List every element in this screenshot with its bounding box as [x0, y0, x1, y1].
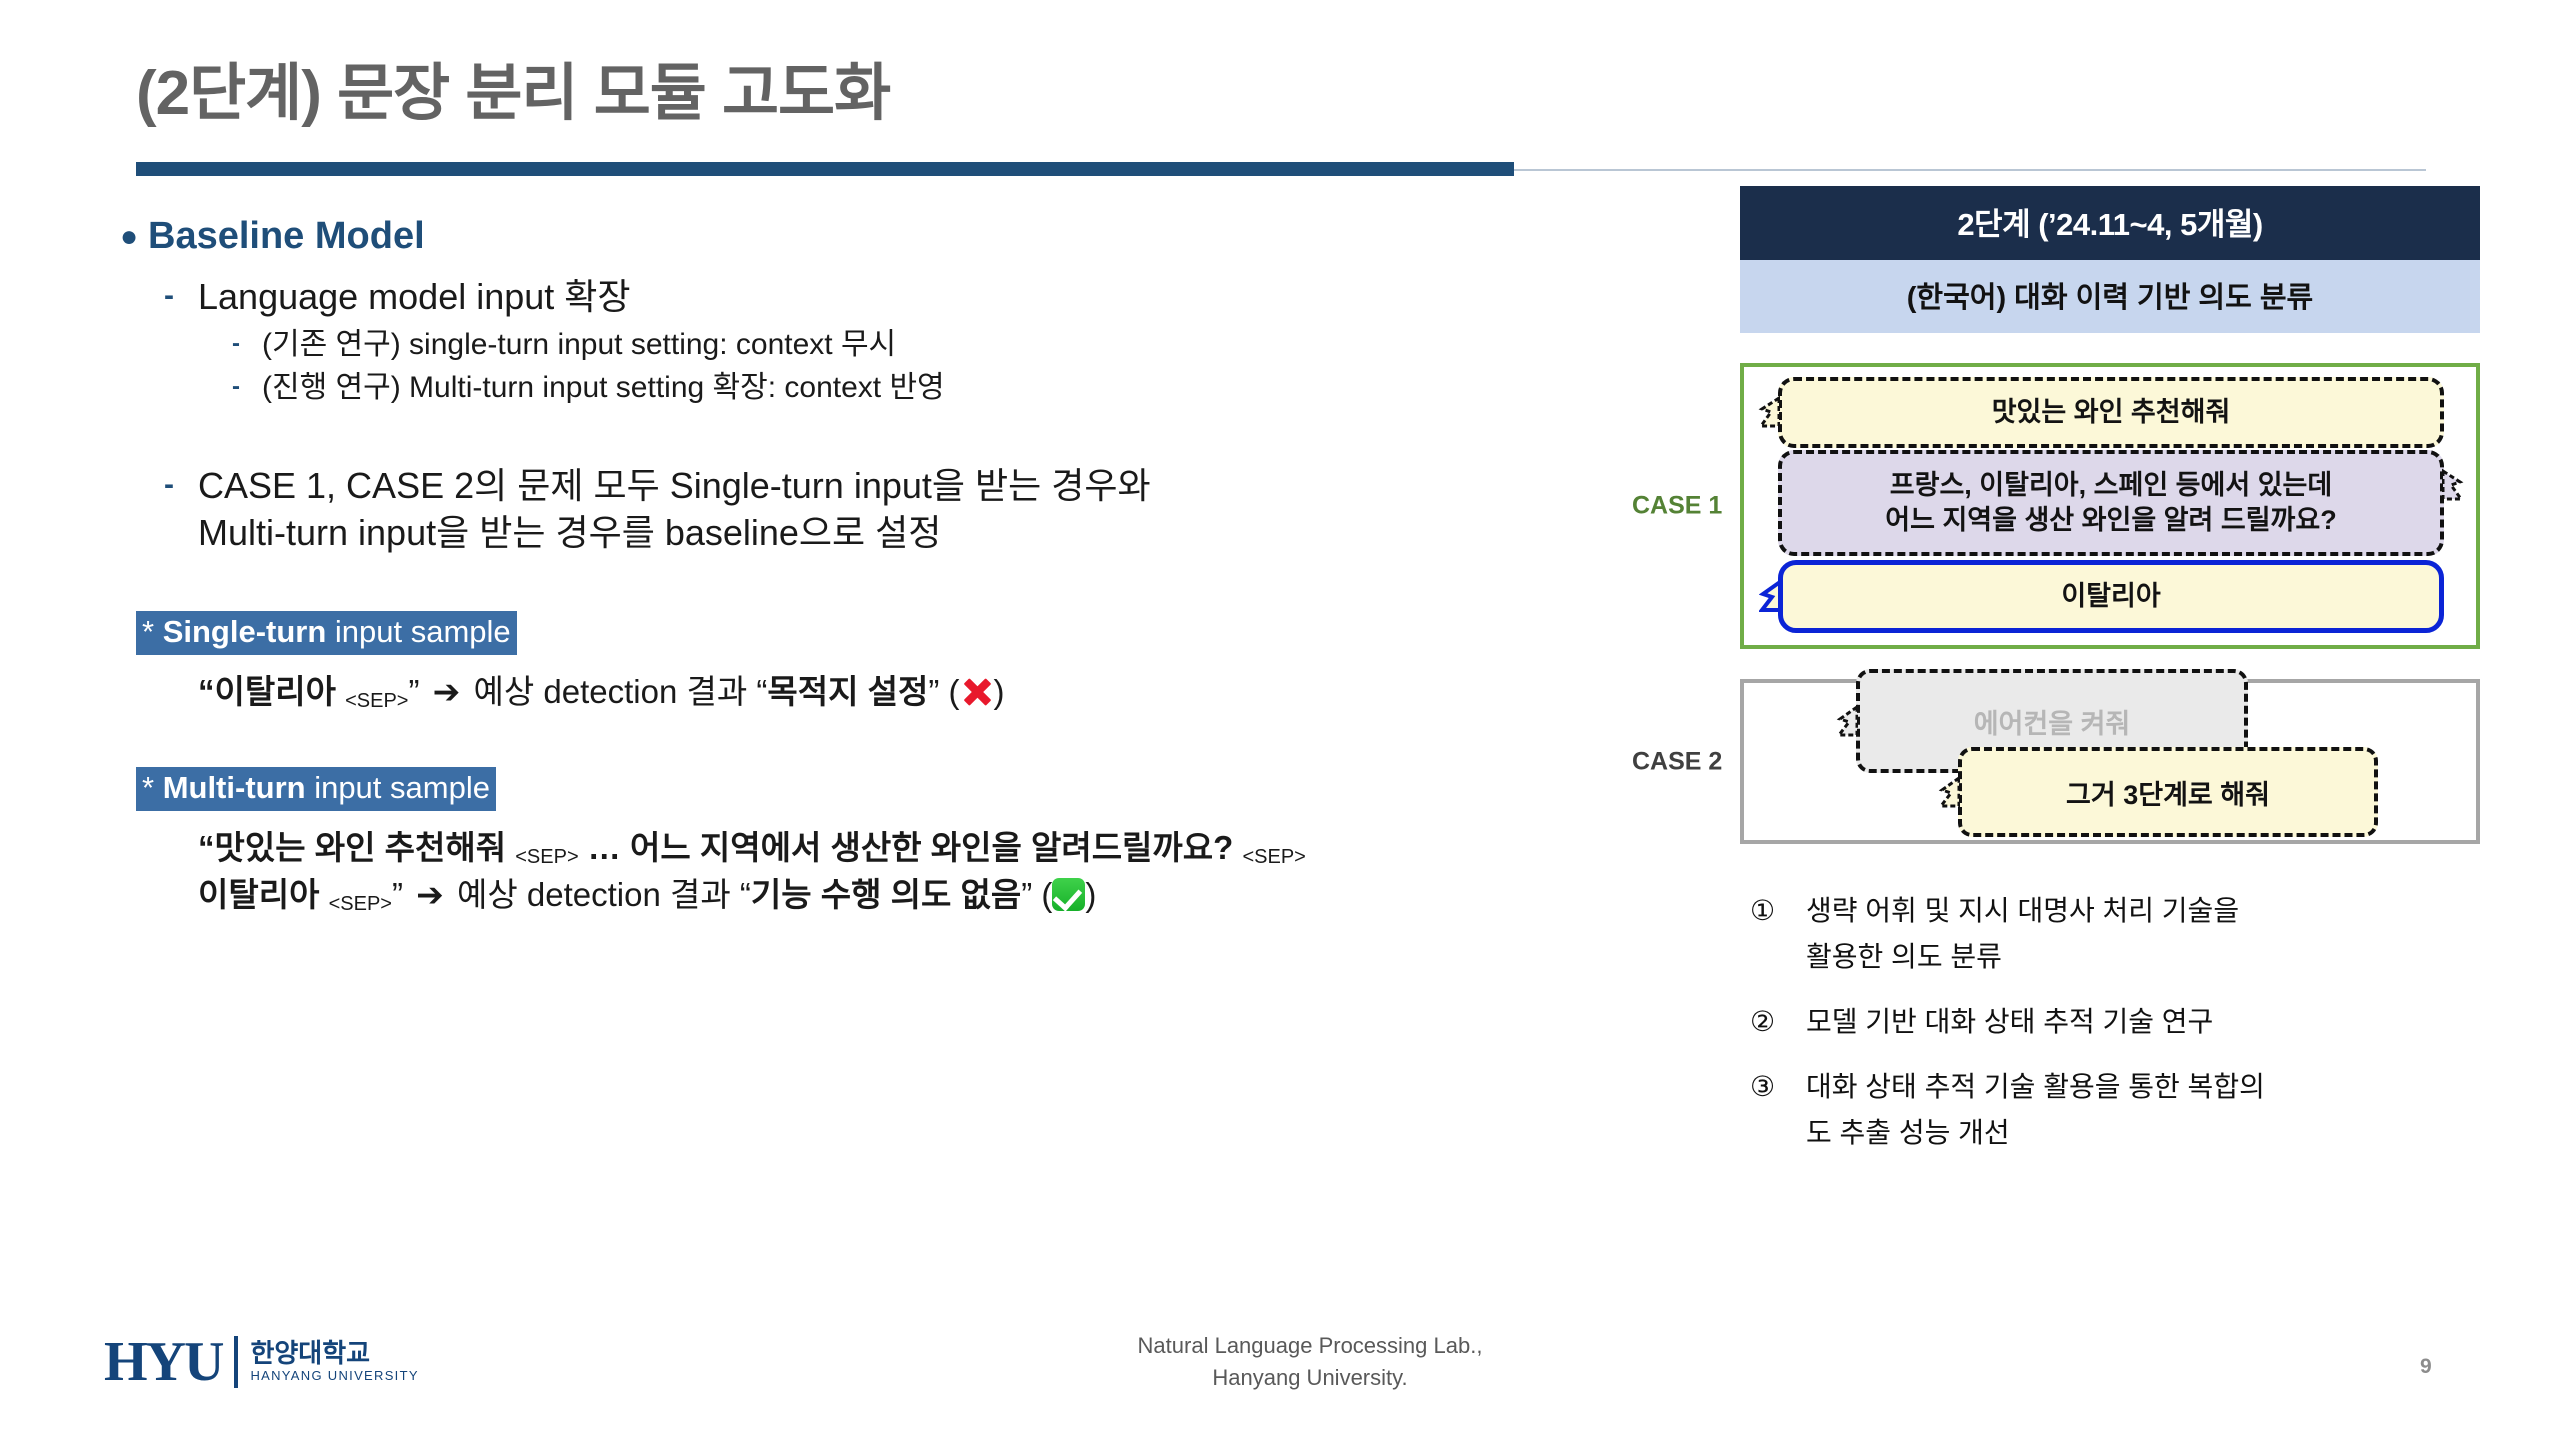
ongoing-research-label: (진행 연구) Multi-turn input setting 확장: con… [262, 366, 945, 410]
bullet-language-model-input: - Language model input 확장 [164, 273, 1640, 321]
hyu-logo: HYU 한양대학교 HANYANG UNIVERSITY [104, 1330, 419, 1394]
case1-bubble-user-1: 맛있는 와인 추천해줘 [1778, 377, 2444, 448]
page-title: (2단계) 문장 분리 모듈 고도화 [136, 42, 890, 132]
sample2-close-paren: ) [1085, 876, 1096, 913]
sample1-close-paren: ) [994, 673, 1005, 710]
list-item: ① 생략 어휘 및 지시 대명사 처리 기술을 활용한 의도 분류 [1750, 888, 2480, 979]
case1-bubble-3-text: 이탈리아 [2061, 581, 2160, 611]
case2-faded-text: 에어컨을 켜줘 [1974, 702, 2131, 741]
sample2-sep-token-2: <SEP> [1242, 846, 1305, 868]
bullet-dot-icon: ● [120, 215, 148, 259]
case1-bubble-2-line2: 어느 지역을 생산 와인을 알려 드릴까요? [1885, 505, 2336, 535]
case-baseline-text: CASE 1, CASE 2의 문제 모두 Single-turn input을… [198, 462, 1151, 557]
list-item-1-line2: 활용한 의도 분류 [1806, 941, 2002, 972]
sample1-middle: 예상 detection 결과 “ [464, 673, 767, 710]
sample1-quote-close: ” [409, 673, 429, 710]
list-item-3-line2: 도 추출 성능 개선 [1806, 1117, 2010, 1148]
existing-research-label: (기존 연구) single-turn input setting: conte… [262, 323, 896, 367]
list-item-1-line1: 생략 어휘 및 지시 대명사 처리 기술을 [1806, 895, 2239, 926]
list-item-2-text: 모델 기반 대화 상태 추적 기술 연구 [1806, 999, 2213, 1044]
spacer [120, 410, 1640, 462]
dash-bullet-icon: - [164, 462, 198, 507]
case1-tag: CASE 1 [1632, 492, 1722, 521]
sample2-line2-c: 예상 detection 결과 “ [448, 876, 751, 913]
dash-bullet-icon: - [164, 273, 198, 318]
logo-divider [234, 1336, 238, 1388]
sub-bullet-existing-research: - (기존 연구) single-turn input setting: con… [232, 323, 1640, 367]
sample2-line2-a: 이탈리아 [198, 876, 329, 913]
right-panel: 2단계 (’24.11~4, 5개월) (한국어) 대화 이력 기반 의도 분류… [1740, 186, 2480, 1175]
case1-row: CASE 1 맛있는 와인 추천해줘 프랑스, 이탈리아, 스페인 등에서 있는… [1740, 363, 2480, 649]
language-model-input-label: Language model input 확장 [198, 273, 631, 321]
sample2-result: 기능 수행 의도 없음 [751, 876, 1021, 913]
spacer [120, 559, 1640, 611]
bubble-tail-left-icon [1836, 704, 1858, 738]
list-marker-2: ② [1750, 999, 1806, 1044]
logo-mark-text: HYU [104, 1330, 222, 1394]
footer-lab-name: Natural Language Processing Lab., Hanyan… [1090, 1330, 1530, 1394]
multi-turn-sample-badge: * Multi-turn input sample [136, 767, 496, 811]
right-arrow-icon: ➔ [429, 673, 465, 710]
sample2-line1-a: “맛있는 와인 추천해줘 [198, 829, 515, 866]
badge-rest-part: input sample [306, 770, 490, 805]
list-item-3-line1: 대화 상태 추적 기술 활용을 통한 복합의 [1806, 1071, 2265, 1102]
sample2-line1-b: … 어느 지역에서 생산한 와인을 알려드릴까요? [579, 829, 1243, 866]
bubble-tail-right-icon [2442, 468, 2464, 502]
sample2-sep-token-3: <SEP> [329, 893, 392, 915]
case2-tag: CASE 2 [1632, 747, 1722, 776]
logo-korean-name: 한양대학교 [250, 1338, 370, 1368]
sample2-line2-b: ” [392, 876, 412, 913]
list-marker-3: ③ [1750, 1064, 1806, 1109]
bullet-case-baseline: - CASE 1, CASE 2의 문제 모두 Single-turn inpu… [164, 462, 1640, 557]
single-turn-sample-text: “이탈리아 <SEP>” ➔ 예상 detection 결과 “목적지 설정” … [198, 669, 1640, 716]
case1-bubble-system-1: 프랑스, 이탈리아, 스페인 등에서 있는데 어느 지역을 생산 와인을 알려 … [1778, 450, 2444, 556]
case1-bubble-2-line1: 프랑스, 이탈리아, 스페인 등에서 있는데 [1890, 470, 2332, 500]
badge-rest-part: input sample [326, 614, 510, 649]
bubble-tail-left-icon [1759, 579, 1781, 613]
sample1-quote-open: “이탈리아 [198, 673, 345, 710]
page-number: 9 [2420, 1355, 2432, 1379]
bullet-baseline-model: ● Baseline Model [120, 215, 1640, 259]
x-mark-icon [960, 674, 994, 708]
sample1-result: 목적지 설정 [767, 673, 928, 710]
bubble-tail-left-icon [1758, 395, 1780, 429]
dash-bullet-icon: - [232, 366, 262, 408]
multi-turn-sample-text: “맛있는 와인 추천해줘 <SEP> … 어느 지역에서 생산한 와인을 알려드… [198, 825, 1640, 919]
sample2-tail: ” ( [1021, 876, 1052, 913]
case2-box: 에어컨을 켜줘 그거 3단계로 해줘 [1740, 679, 2480, 844]
multi-turn-sample-block: * Multi-turn input sample “맛있는 와인 추천해줘 <… [120, 767, 1640, 919]
case1-box: 맛있는 와인 추천해줘 프랑스, 이탈리아, 스페인 등에서 있는데 어느 지역… [1740, 363, 2480, 649]
bubble-tail-left-icon [1938, 775, 1960, 809]
check-mark-icon [1052, 878, 1085, 911]
slide-canvas: (2단계) 문장 분리 모듈 고도화 ● Baseline Model - La… [0, 0, 2560, 1440]
right-arrow-icon: ➔ [412, 876, 448, 913]
spacer [120, 715, 1640, 767]
stage-subtitle-banner: (한국어) 대화 이력 기반 의도 분류 [1740, 260, 2480, 333]
logo-name-group: 한양대학교 HANYANG UNIVERSITY [250, 1339, 418, 1386]
case1-bubble-1-text: 맛있는 와인 추천해줘 [1992, 397, 2231, 427]
logo-english-name: HANYANG UNIVERSITY [250, 1368, 418, 1383]
single-turn-sample-badge: * Single-turn input sample [136, 611, 517, 655]
footer-line-1: Natural Language Processing Lab., [1090, 1330, 1530, 1362]
badge-star: * [142, 614, 163, 649]
stage-header-banner: 2단계 (’24.11~4, 5개월) [1740, 186, 2480, 260]
case2-active-text: 그거 3단계로 해줘 [2066, 773, 2270, 812]
list-item: ② 모델 기반 대화 상태 추적 기술 연구 [1750, 999, 2480, 1044]
sub-bullet-ongoing-research: - (진행 연구) Multi-turn input setting 확장: c… [232, 366, 1640, 410]
footer-line-2: Hanyang University. [1090, 1362, 1530, 1394]
title-underline-bar [136, 162, 1514, 176]
title-underline-thin [1514, 169, 2426, 171]
case-baseline-line1: CASE 1, CASE 2의 문제 모두 Single-turn input을… [198, 465, 1151, 506]
badge-bold-part: Multi-turn [163, 770, 306, 805]
research-goals-list: ① 생략 어휘 및 지시 대명사 처리 기술을 활용한 의도 분류 ② 모델 기… [1750, 888, 2480, 1155]
baseline-model-label: Baseline Model [148, 215, 425, 258]
sample2-sep-token-1: <SEP> [515, 846, 578, 868]
sample1-tail: ” ( [928, 673, 959, 710]
case1-bubble-user-2: 이탈리아 [1778, 560, 2444, 633]
case2-row: CASE 2 에어컨을 켜줘 그거 3단계로 해줘 [1740, 679, 2480, 844]
left-content-column: ● Baseline Model - Language model input … [120, 215, 1640, 919]
sample1-sep-token: <SEP> [345, 690, 408, 712]
list-item-1-text: 생략 어휘 및 지시 대명사 처리 기술을 활용한 의도 분류 [1806, 888, 2239, 979]
case-baseline-line2: Multi-turn input을 받는 경우를 baseline으로 설정 [198, 512, 941, 553]
badge-bold-part: Single-turn [163, 614, 327, 649]
dash-bullet-icon: - [232, 323, 262, 365]
badge-star: * [142, 770, 163, 805]
list-item: ③ 대화 상태 추적 기술 활용을 통한 복합의 도 추출 성능 개선 [1750, 1064, 2480, 1155]
single-turn-sample-block: * Single-turn input sample “이탈리아 <SEP>” … [120, 611, 1640, 716]
case2-bubble-active: 그거 3단계로 해줘 [1958, 747, 2378, 837]
list-item-3-text: 대화 상태 추적 기술 활용을 통한 복합의 도 추출 성능 개선 [1806, 1064, 2265, 1155]
list-marker-1: ① [1750, 888, 1806, 933]
